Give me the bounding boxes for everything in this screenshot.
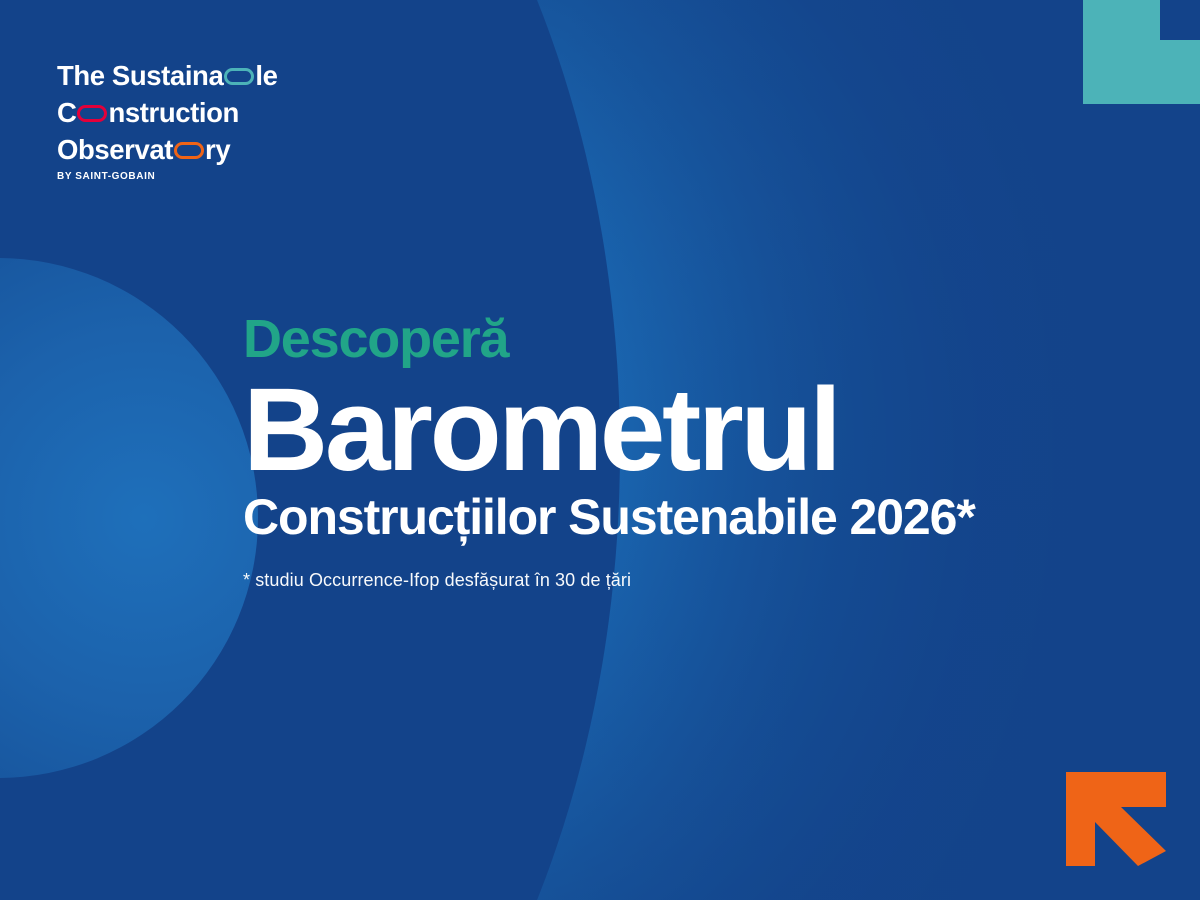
logo-pill-o-orange-icon	[174, 142, 204, 159]
saint-gobain-arrow-icon	[1066, 772, 1166, 866]
logo-byline: BY SAINT-GOBAIN	[57, 171, 357, 182]
logo-pill-o-red-icon	[77, 105, 107, 122]
poster-canvas: The Sustainale Cnstruction Observatry BY…	[0, 0, 1200, 900]
hero-footnote: * studiu Occurrence-Ifop desfășurat în 3…	[243, 568, 1143, 592]
logo-line-2-post: nstruction	[108, 94, 238, 131]
hero-eyebrow: Descoperă	[243, 308, 1143, 370]
hero-subtitle: Construcțiilor Sustenabile 2026*	[243, 488, 1143, 546]
logo-line-2-pre: C	[57, 94, 76, 131]
logo-line-1: The Sustainale	[57, 57, 357, 94]
logo-line-3: Observatry	[57, 131, 357, 168]
page-title: Barometrul	[243, 374, 1143, 486]
teal-block-part-short	[1160, 40, 1200, 104]
logo-line-1-pre: The Sustaina	[57, 57, 223, 94]
logo-line-3-pre: Observat	[57, 131, 173, 168]
logo-line-1-post: le	[255, 57, 277, 94]
observatory-logo[interactable]: The Sustainale Cnstruction Observatry BY…	[57, 57, 357, 182]
teal-block-part-tall	[1083, 0, 1160, 104]
hero-block: Descoperă Barometrul Construcțiilor Sust…	[243, 308, 1143, 592]
logo-line-3-post: ry	[205, 131, 230, 168]
logo-line-2: Cnstruction	[57, 94, 357, 131]
teal-notched-block-icon	[1083, 0, 1200, 104]
logo-pill-b-icon	[224, 68, 254, 85]
